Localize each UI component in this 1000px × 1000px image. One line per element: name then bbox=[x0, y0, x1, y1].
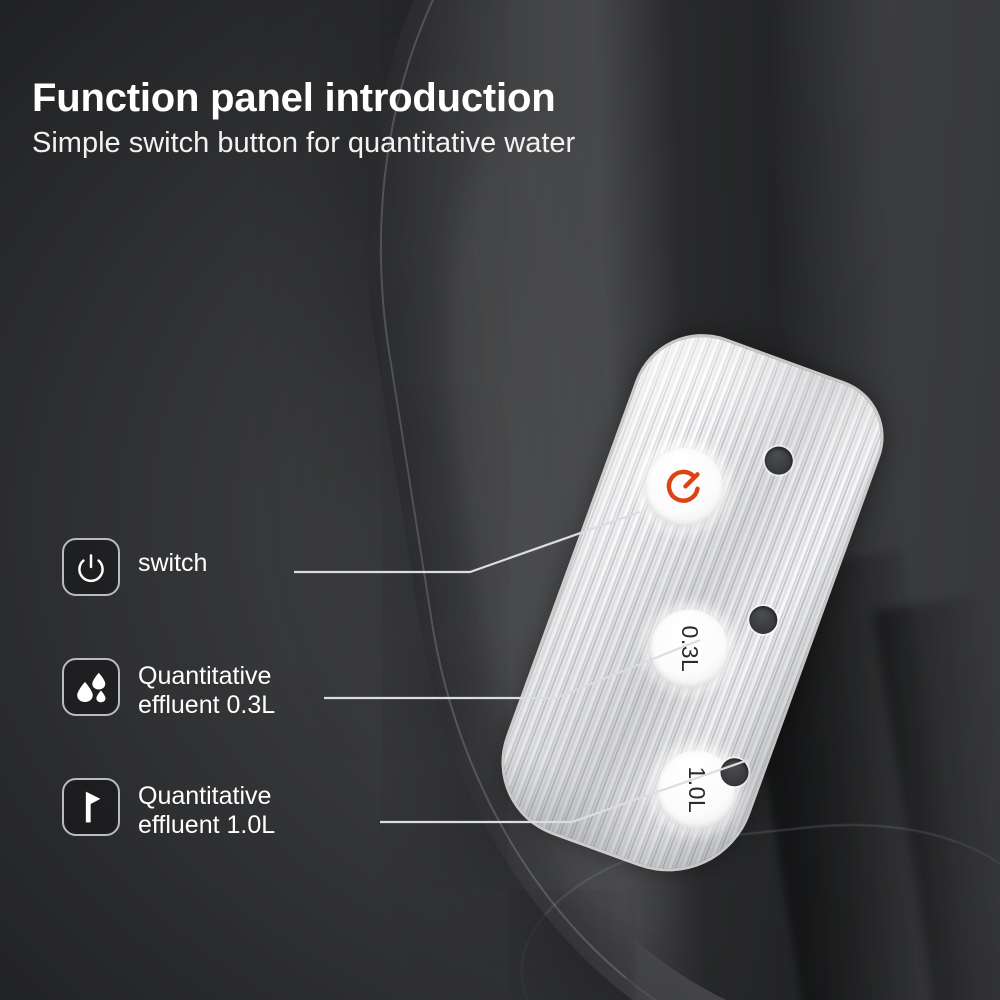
legend-label-10l: Quantitative effluent 1.0L bbox=[138, 778, 275, 841]
water-drops-icon bbox=[72, 668, 110, 706]
product-infographic: 0.3L 1.0L Function panel introduction Si… bbox=[0, 0, 1000, 1000]
legend-item-10l: Quantitative effluent 1.0L bbox=[62, 778, 275, 841]
header: Function panel introduction Simple switc… bbox=[32, 76, 575, 160]
legend-item-switch: switch bbox=[62, 538, 207, 596]
legend-icon-box-03l bbox=[62, 658, 120, 716]
flag-spout-icon bbox=[74, 789, 108, 825]
power-icon bbox=[661, 464, 707, 510]
legend-icon-box-10l bbox=[62, 778, 120, 836]
power-icon bbox=[74, 550, 108, 584]
dose-03l-button-label: 0.3L bbox=[676, 625, 703, 672]
legend-label-switch: switch bbox=[138, 538, 207, 578]
dose-10l-button-label: 1.0L bbox=[683, 766, 710, 813]
legend-label-03l: Quantitative effluent 0.3L bbox=[138, 658, 275, 721]
page-title: Function panel introduction bbox=[32, 76, 575, 121]
page-subtitle: Simple switch button for quantitative wa… bbox=[32, 127, 575, 160]
legend-item-03l: Quantitative effluent 0.3L bbox=[62, 658, 275, 721]
legend-icon-box-switch bbox=[62, 538, 120, 596]
